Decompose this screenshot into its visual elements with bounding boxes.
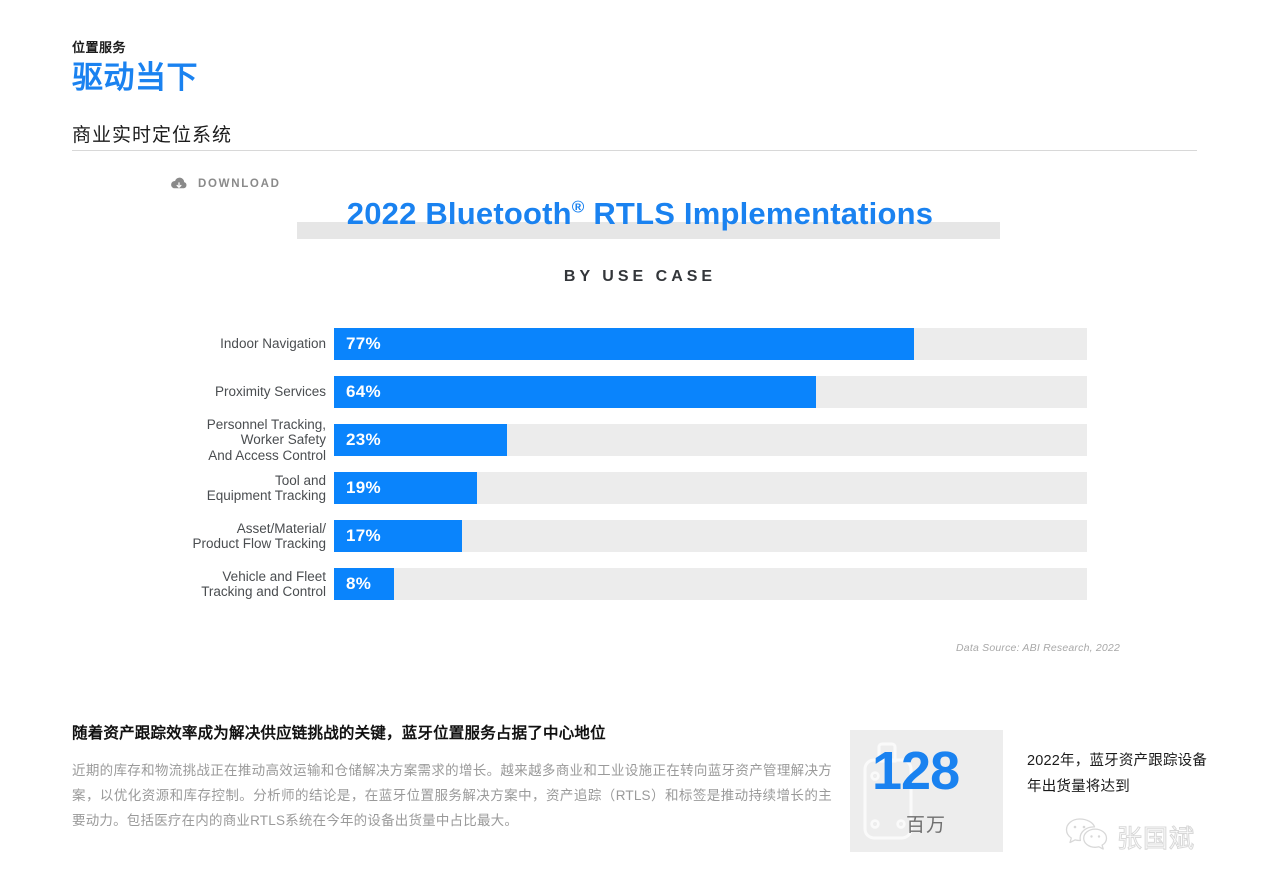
bar-row: Vehicle and Fleet Tracking and Control8% [0,568,1280,600]
chart-title-rest: RTLS Implementations [585,196,934,231]
bar-track: 17% [334,520,1087,552]
chart-title-main: 2022 Bluetooth [347,196,572,231]
stat-card: 128 百万 [850,730,1003,852]
page-header: 位置服务 驱动当下 [72,40,198,97]
watermark: 张国斌 [1063,816,1195,857]
bar-row: Personnel Tracking, Worker Safety And Ac… [0,424,1280,456]
download-link[interactable]: DOWNLOAD [170,177,281,191]
bar-track: 8% [334,568,1087,600]
bar-category-label: Personnel Tracking, Worker Safety And Ac… [0,417,334,464]
bottom-text-block: 随着资产跟踪效率成为解决供应链挑战的关键，蓝牙位置服务占据了中心地位 近期的库存… [72,722,832,833]
chart-title-holder: 2022 Bluetooth® RTLS Implementations [0,196,1280,248]
bar-value-label: 64% [346,376,381,408]
chart-title: 2022 Bluetooth® RTLS Implementations [0,196,1280,232]
wechat-icon [1063,816,1109,857]
bar-track: 23% [334,424,1087,456]
cloud-download-icon [170,177,188,191]
bar-track: 77% [334,328,1087,360]
bar-value-label: 23% [346,424,381,456]
bar-row: Asset/Material/ Product Flow Tracking17% [0,520,1280,552]
bar-value-label: 17% [346,520,381,552]
header-divider [72,150,1197,151]
bottom-heading: 随着资产跟踪效率成为解决供应链挑战的关键，蓝牙位置服务占据了中心地位 [72,722,832,745]
bar-track: 64% [334,376,1087,408]
stat-unit: 百万 [906,810,946,837]
bar-row: Indoor Navigation77% [0,328,1280,360]
chart-subtitle: BY USE CASE [0,268,1280,286]
bar-value-label: 8% [346,568,371,600]
stat-number: 128 [872,744,959,798]
bar-category-label: Indoor Navigation [0,336,334,352]
page-title: 驱动当下 [72,59,198,98]
chart-container: 2022 Bluetooth® RTLS Implementations BY … [0,196,1280,654]
bar-chart-bars: Indoor Navigation77%Proximity Services64… [0,328,1280,600]
bar-fill [334,376,816,408]
stat-caption: 2022年，蓝牙资产跟踪设备年出货量将达到 [1027,748,1217,800]
bar-category-label: Asset/Material/ Product Flow Tracking [0,521,334,552]
bar-category-label: Tool and Equipment Tracking [0,473,334,504]
bar-value-label: 77% [346,328,381,360]
bar-track: 19% [334,472,1087,504]
bottom-paragraph: 近期的库存和物流挑战正在推动高效运输和仓储解决方案需求的增长。越来越多商业和工业… [72,758,832,833]
bar-row: Tool and Equipment Tracking19% [0,472,1280,504]
watermark-text: 张国斌 [1117,819,1195,855]
download-label: DOWNLOAD [198,178,281,190]
chart-data-source: Data Source: ABI Research, 2022 [0,642,1280,654]
eyebrow-label: 位置服务 [72,40,198,56]
bar-row: Proximity Services64% [0,376,1280,408]
bar-category-label: Proximity Services [0,384,334,400]
page-subtitle: 商业实时定位系统 [72,120,232,147]
bar-fill [334,328,914,360]
bar-category-label: Vehicle and Fleet Tracking and Control [0,569,334,600]
registered-mark-icon: ® [572,198,585,217]
bar-value-label: 19% [346,472,381,504]
